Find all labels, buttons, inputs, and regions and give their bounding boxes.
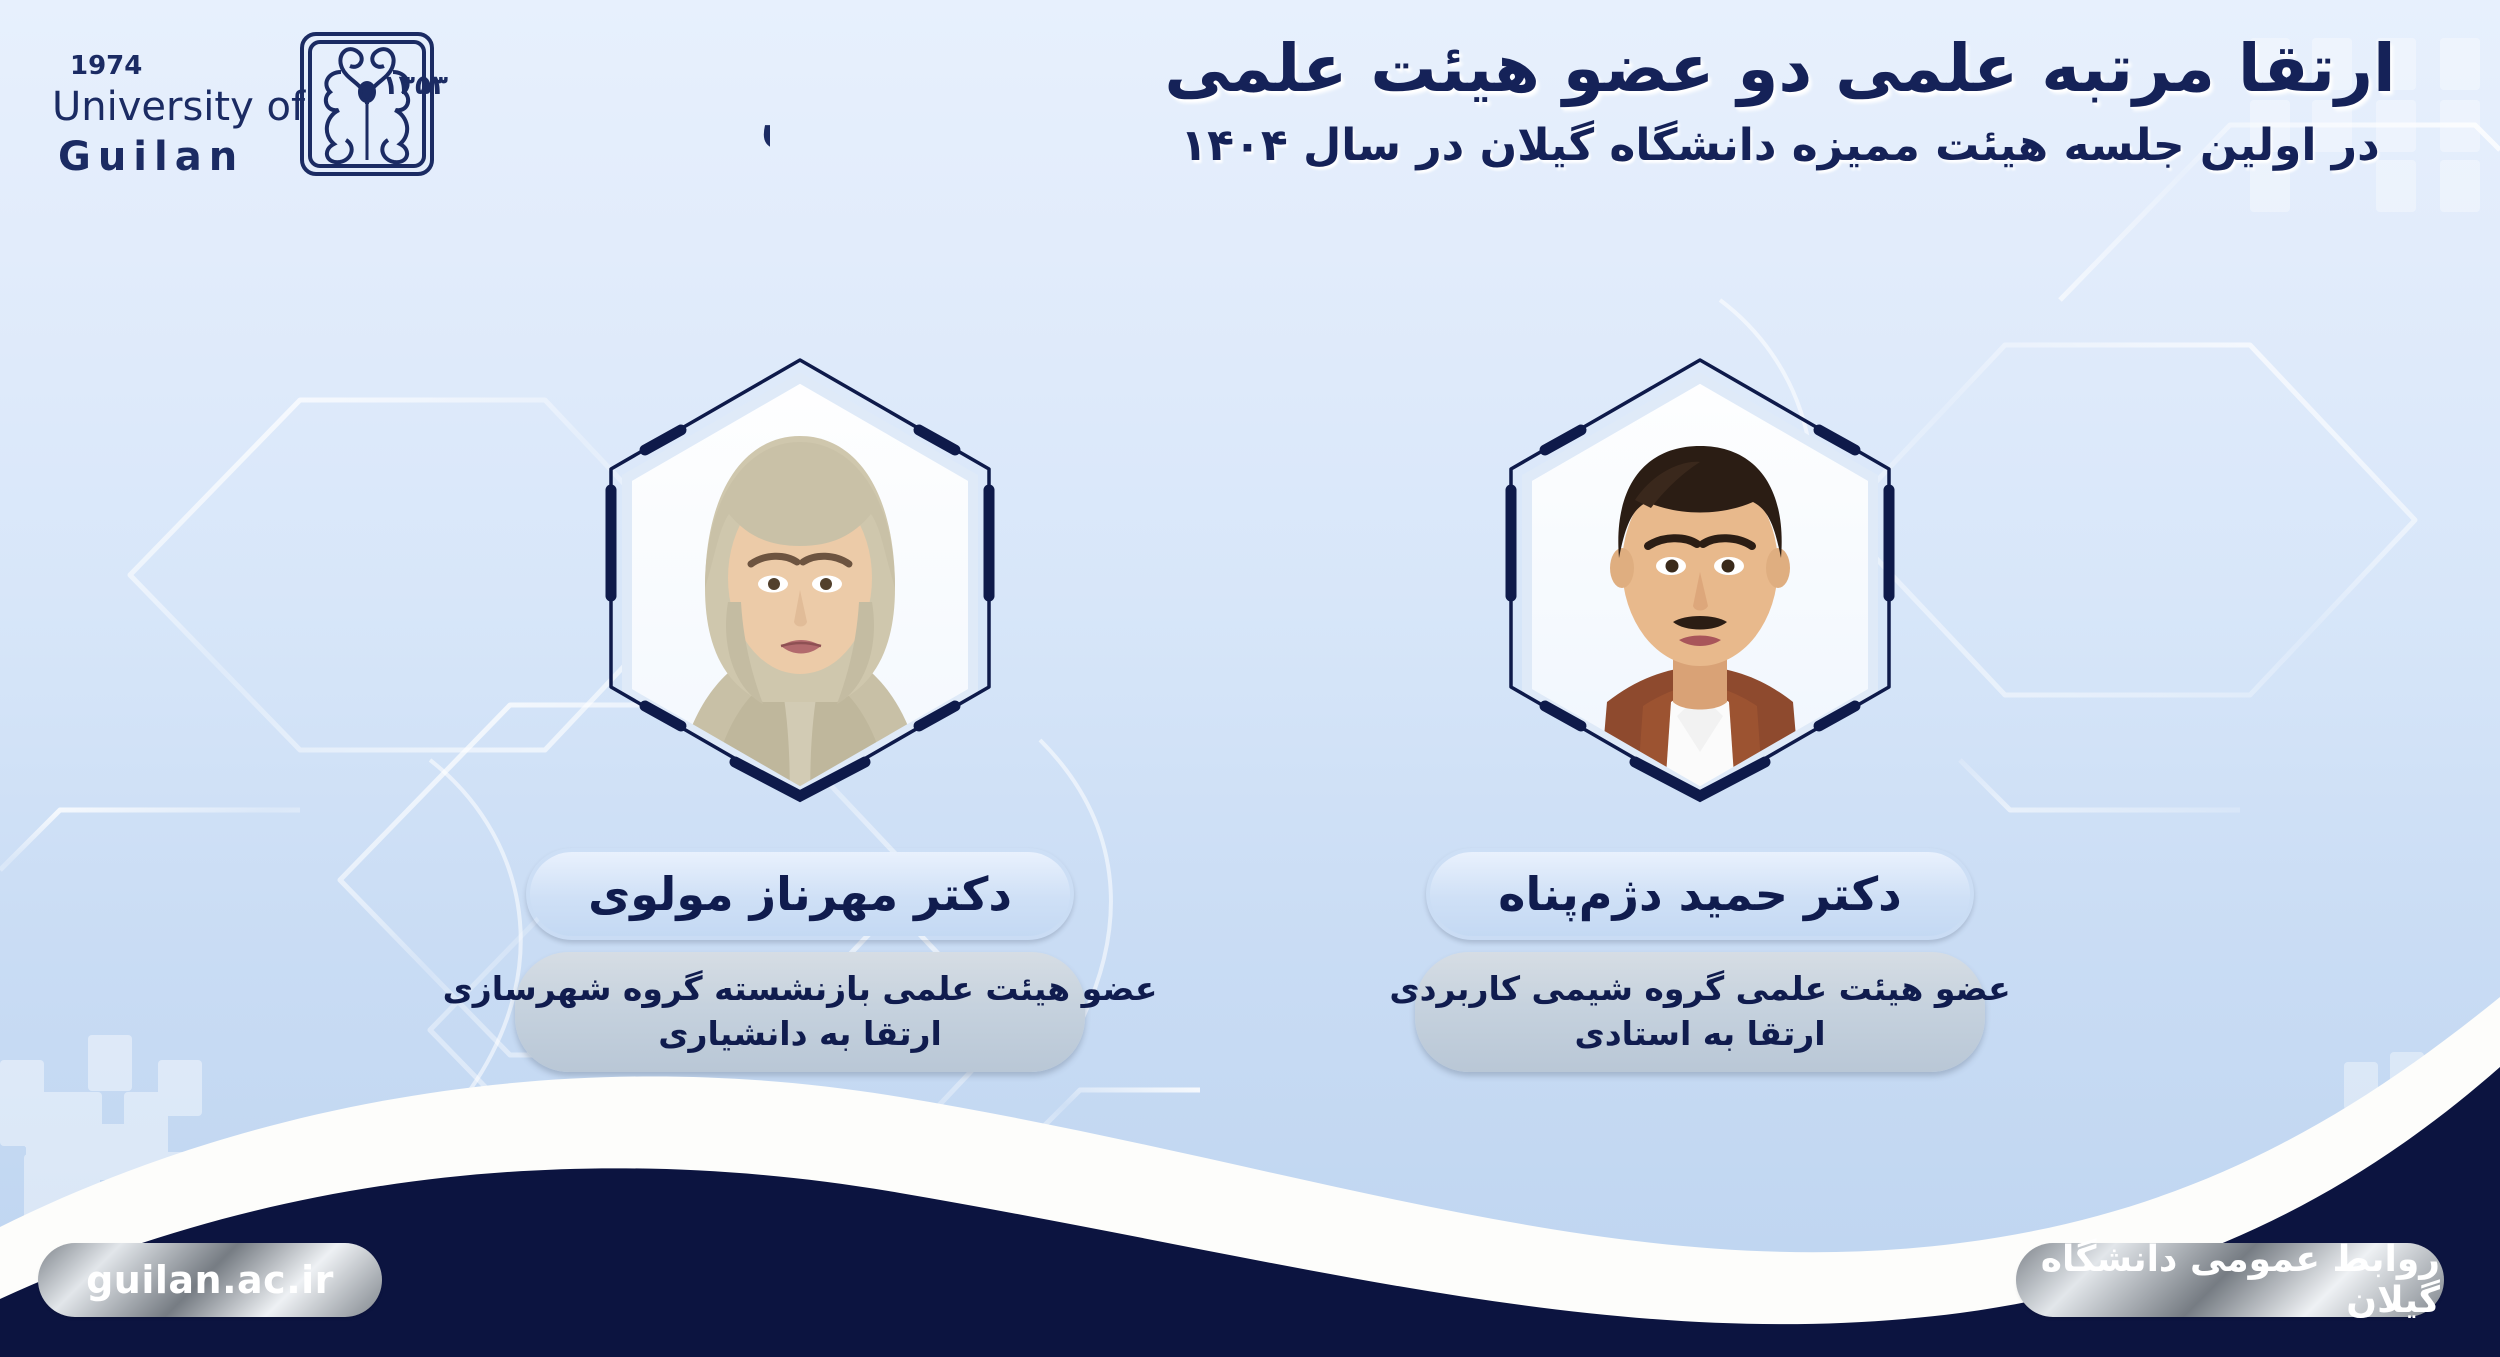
website-url: guilan.ac.ir xyxy=(86,1258,334,1302)
poster-canvas: 1974 University of Guilan ۱۳۵۳ دانشگاه گ… xyxy=(0,0,2500,1357)
avatar xyxy=(585,350,1015,820)
logo-year-en: 1974 xyxy=(70,51,142,81)
logo-year-fa: ۱۳۵۳ xyxy=(382,70,448,101)
person-promotion: ارتقا به دانشیاری xyxy=(658,1012,942,1057)
logo-name-fa: دانشگاه گیلان xyxy=(760,82,770,155)
person-photo xyxy=(1485,350,1915,820)
person-photo xyxy=(585,350,1015,820)
page-title: ارتقا مرتبه علمی دو عضو هیئت علمی xyxy=(1130,28,2430,111)
person-role: عضو هیئت علمی بازنشسته گروه شهرسازی xyxy=(443,967,1158,1012)
page-subtitle: در اولین جلسه هیئت ممیزه دانشگاه گیلان د… xyxy=(1130,117,2430,174)
person-name: دکتر مهرناز مولوی xyxy=(588,871,1012,917)
website-badge[interactable]: guilan.ac.ir xyxy=(42,1247,378,1313)
person-role: عضو هیئت علمی گروه شیمی کاربردی xyxy=(1389,967,2010,1012)
people-row: دکتر حمید دژم‌پناه عضو هیئت علمی گروه شی… xyxy=(0,350,2500,1110)
logo-name-en-line2: Guilan xyxy=(58,134,244,180)
person-card: دکتر مهرناز مولوی عضو هیئت علمی بازنشسته… xyxy=(420,350,1180,1072)
person-name-badge: دکتر حمید دژم‌پناه xyxy=(1426,848,1974,940)
person-name-badge: دکتر مهرناز مولوی xyxy=(526,848,1074,940)
logo-name-en-line1: University of xyxy=(52,84,306,130)
public-relations-badge: روابط عمومی دانشگاه گیلان xyxy=(2020,1247,2440,1313)
person-detail-badge: عضو هیئت علمی بازنشسته گروه شهرسازی ارتق… xyxy=(515,952,1085,1072)
public-relations-label: روابط عمومی دانشگاه گیلان xyxy=(2020,1239,2440,1321)
logo-emblem xyxy=(302,34,432,174)
person-name: دکتر حمید دژم‌پناه xyxy=(1498,871,1901,917)
person-card: دکتر حمید دژم‌پناه عضو هیئت علمی گروه شی… xyxy=(1320,350,2080,1072)
avatar xyxy=(1485,350,1915,820)
university-logo: 1974 University of Guilan ۱۳۵۳ دانشگاه گ… xyxy=(30,12,790,192)
header-block: ارتقا مرتبه علمی دو عضو هیئت علمی در اول… xyxy=(1130,28,2430,174)
person-detail-badge: عضو هیئت علمی گروه شیمی کاربردی ارتقا به… xyxy=(1415,952,1985,1072)
person-promotion: ارتقا به استادی xyxy=(1574,1012,1825,1057)
